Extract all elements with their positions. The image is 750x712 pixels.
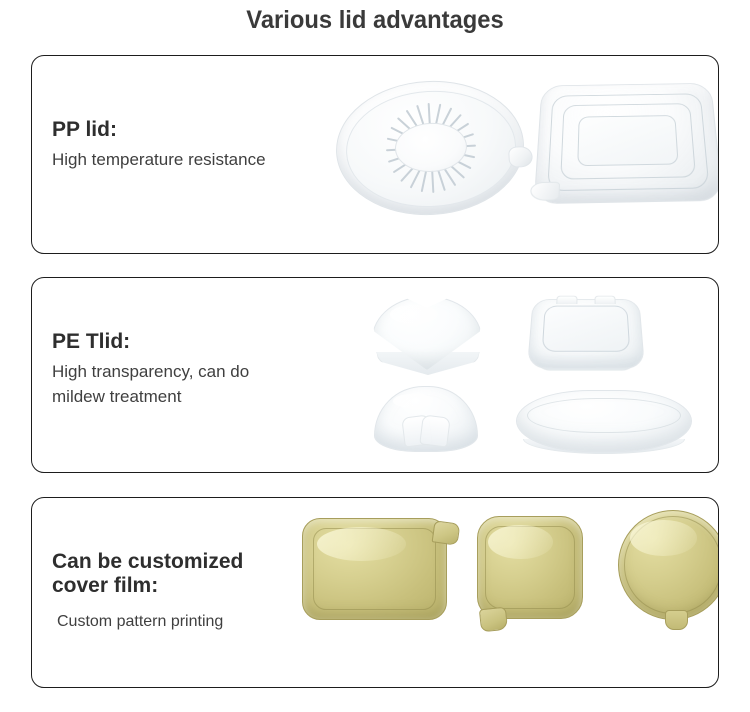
- lid-body: [527, 299, 645, 369]
- film-pull-tab: [432, 520, 461, 545]
- page-title: Various lid advantages: [19, 6, 732, 35]
- card-cover-film-text: Can be customized cover film: Custom pat…: [52, 550, 243, 633]
- card-pp-lid-heading: PP lid:: [52, 118, 266, 142]
- lid-inner-panel: [542, 306, 630, 351]
- card-pp-lid-products: [310, 56, 712, 253]
- round-dome-pe-lid-image: [374, 386, 478, 452]
- film-pull-tab: [665, 610, 688, 630]
- card-cover-film-heading: Can be customized cover film:: [52, 550, 243, 598]
- rectangular-pp-lid-image: [534, 83, 719, 204]
- card-cover-film-subtitle: Custom pattern printing: [52, 604, 243, 633]
- card-cover-film: Can be customized cover film: Custom pat…: [31, 497, 719, 688]
- lid-body: [516, 390, 692, 452]
- infographic-page: Various lid advantages PP lid: High temp…: [0, 0, 750, 712]
- square-clear-pe-lid-image: [527, 299, 645, 369]
- film-pull-tab: [479, 607, 508, 633]
- card-pe-lid-products: [350, 278, 708, 472]
- film-inset-ring: [313, 528, 436, 610]
- gold-rectangular-cover-film-image: [302, 518, 447, 620]
- lid-inner-panel: [527, 398, 680, 433]
- film-inset-ring: [485, 526, 574, 609]
- lid-ridge-inner: [577, 115, 678, 165]
- card-pp-lid-subtitle: High temperature resistance: [52, 148, 266, 173]
- heart-dome-pe-lid-image: [372, 296, 482, 370]
- gold-circular-cover-film-image: [618, 510, 719, 620]
- card-pe-lid-text: PE Tlid: High transparency, can do milde…: [52, 330, 249, 409]
- lid-highlight: [390, 305, 438, 324]
- lid-notch-left: [556, 296, 577, 304]
- card-pe-lid: PE Tlid: High transparency, can do milde…: [31, 277, 719, 473]
- round-ribbed-pp-lid-image: [333, 76, 528, 220]
- card-pe-lid-subtitle: High transparency, can do mildew treatme…: [52, 360, 249, 409]
- card-cover-film-products: [260, 498, 712, 687]
- card-pe-lid-heading: PE Tlid:: [52, 330, 249, 354]
- oval-flat-pe-lid-image: [516, 390, 692, 452]
- lid-wedge-right: [420, 414, 451, 447]
- lid-notch-right: [595, 296, 616, 304]
- lid-pull-tab: [508, 145, 533, 167]
- card-pp-lid-text: PP lid: High temperature resistance: [52, 118, 266, 173]
- gold-square-cover-film-image: [477, 516, 583, 619]
- lid-corner-tab: [530, 182, 560, 201]
- film-inset-ring: [624, 516, 719, 613]
- card-pp-lid: PP lid: High temperature resistance: [31, 55, 719, 254]
